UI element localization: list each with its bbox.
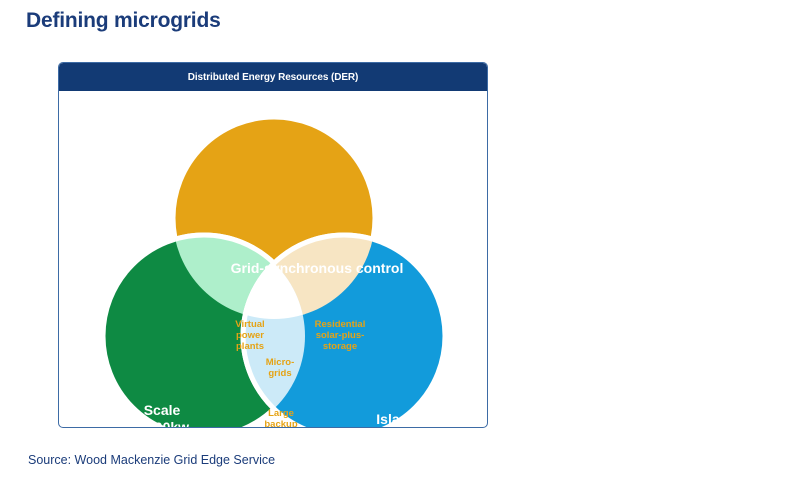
page-title: Defining microgrids xyxy=(26,9,221,33)
source-note: Source: Wood Mackenzie Grid Edge Service xyxy=(28,453,275,467)
venn-diagram-svg xyxy=(59,91,488,427)
der-card-header: Distributed Energy Resources (DER) xyxy=(59,63,487,91)
der-card-header-label: Distributed Energy Resources (DER) xyxy=(188,72,359,83)
der-diagram-card: Distributed Energy Resources (DER) xyxy=(58,62,488,428)
venn-diagram: Grid-synchronous control Scale > 100kw I… xyxy=(59,91,487,427)
